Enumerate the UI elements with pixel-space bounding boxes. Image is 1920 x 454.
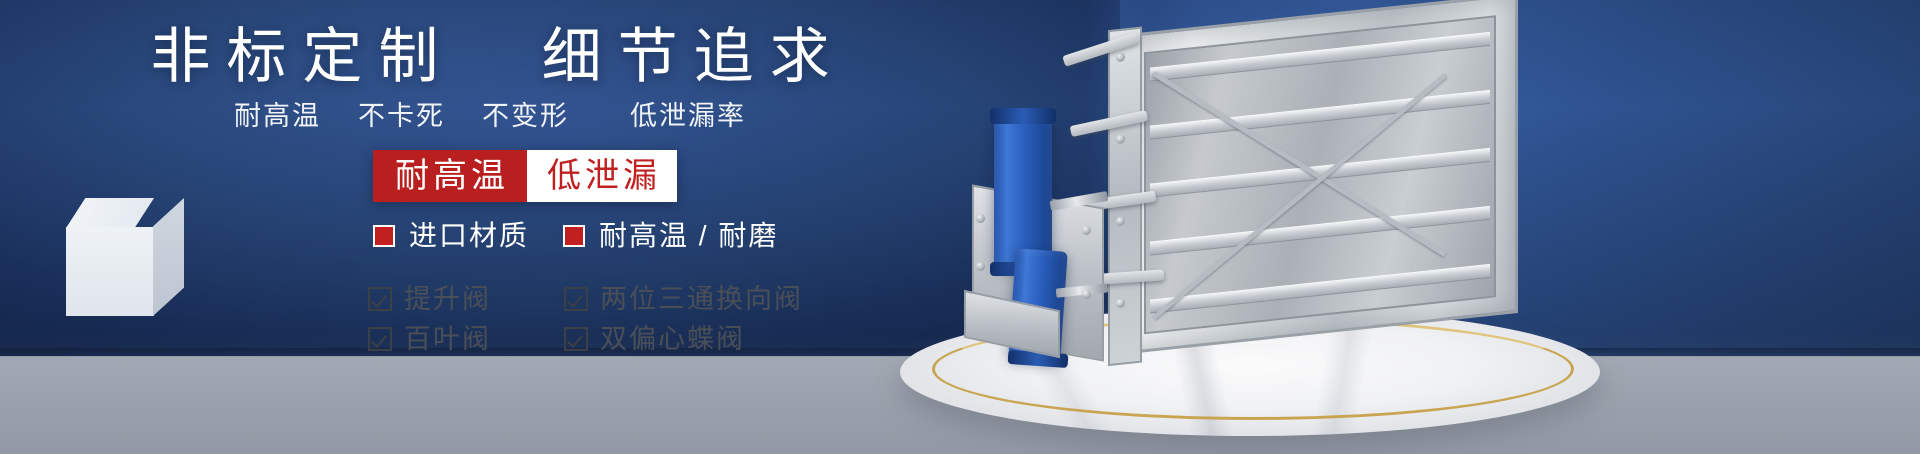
cylinder-top-cap xyxy=(990,108,1056,124)
feature-item: 进口材质 xyxy=(373,221,529,251)
subheadline-item-3: 不变形 xyxy=(482,101,569,131)
badge-red-segment: 耐高温 xyxy=(373,150,527,202)
checklist-item: 提升阀 xyxy=(368,284,540,314)
promo-banner: 非标定制 细节追求 耐高温 不卡死 不变形 低泄漏率 耐高温 低泄漏 进口材质 … xyxy=(0,0,1920,454)
feature-list: 进口材质 耐高温 / 耐磨 xyxy=(373,221,778,251)
checklist-label: 双偏心蝶阀 xyxy=(600,324,745,354)
headline-left: 非标定制 xyxy=(150,23,454,90)
subheadline-item-2: 不卡死 xyxy=(358,101,445,131)
actuator-bolt-icon xyxy=(976,262,985,271)
checked-box-icon xyxy=(564,327,588,351)
red-square-bullet-icon xyxy=(563,225,585,247)
hydraulic-cylinder-upper xyxy=(994,118,1052,268)
feature-label: 耐高温 / 耐磨 xyxy=(599,221,778,251)
red-square-bullet-icon xyxy=(373,225,395,247)
subheadline: 耐高温 不卡死 不变形 低泄漏率 xyxy=(0,96,980,136)
headline: 非标定制 细节追求 xyxy=(0,20,980,94)
louver-damper-valve xyxy=(1118,0,1518,355)
checklist-item: 双偏心蝶阀 xyxy=(564,324,803,354)
damper-blade xyxy=(1150,90,1490,140)
checked-box-icon xyxy=(368,327,392,351)
damper-inner-panel xyxy=(1144,15,1496,334)
text-content: 非标定制 细节追求 耐高温 不卡死 不变形 低泄漏率 耐高温 低泄漏 进口材质 … xyxy=(0,0,980,454)
actuator-bolt-icon xyxy=(1082,290,1091,299)
product-checklist: 提升阀 两位三通换向阀 百叶阀 双偏心蝶阀 xyxy=(368,284,803,354)
checklist-label: 提升阀 xyxy=(404,284,491,314)
subheadline-item-4: 低泄漏率 xyxy=(630,101,746,131)
checked-box-icon xyxy=(564,287,588,311)
headline-right: 细节追求 xyxy=(542,23,846,90)
checklist-item: 两位三通换向阀 xyxy=(564,284,803,314)
checklist-label: 百叶阀 xyxy=(404,324,491,354)
subheadline-item-1: 耐高温 xyxy=(234,101,321,131)
badge-white-segment: 低泄漏 xyxy=(527,150,677,202)
feature-label: 进口材质 xyxy=(409,221,529,251)
actuator-bolt-icon xyxy=(1082,226,1091,235)
feature-item: 耐高温 / 耐磨 xyxy=(563,221,778,251)
product-image xyxy=(880,0,1920,454)
highlight-badge: 耐高温 低泄漏 xyxy=(373,150,677,202)
checked-box-icon xyxy=(368,287,392,311)
checklist-item: 百叶阀 xyxy=(368,324,540,354)
actuator-bolt-icon xyxy=(976,214,985,223)
checklist-label: 两位三通换向阀 xyxy=(600,284,803,314)
damper-blade xyxy=(1150,148,1490,198)
